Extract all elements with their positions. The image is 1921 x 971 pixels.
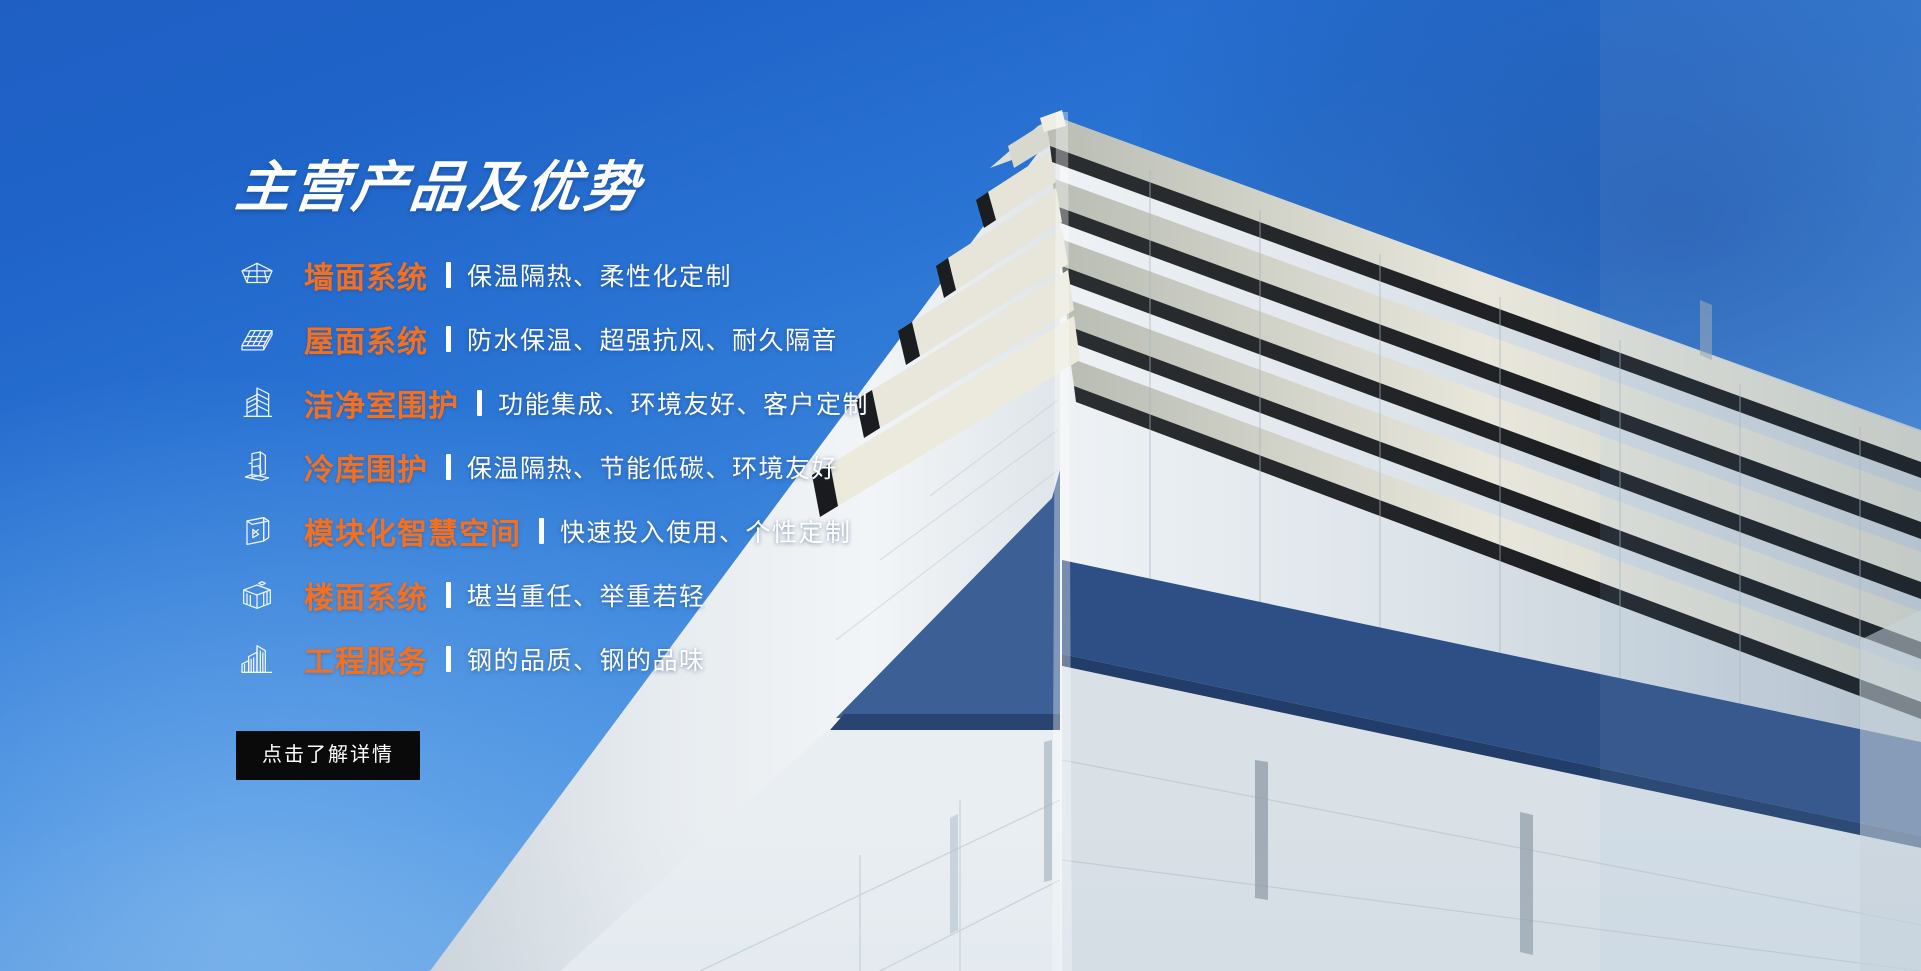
feature-title: 墙面系统 bbox=[304, 253, 428, 297]
bottom-vignette bbox=[0, 821, 1921, 971]
feature-separator bbox=[446, 646, 451, 672]
feature-row[interactable]: 模块化智慧空间 快速投入使用、个性定制 bbox=[236, 499, 1056, 563]
feature-row[interactable]: 洁净室围护 功能集成、环境友好、客户定制 bbox=[236, 371, 1056, 435]
feature-title: 模块化智慧空间 bbox=[304, 509, 521, 553]
feature-separator bbox=[539, 518, 544, 544]
feature-desc: 快速投入使用、个性定制 bbox=[560, 513, 852, 549]
feature-desc: 堪当重任、举重若轻 bbox=[467, 577, 706, 613]
learn-more-button[interactable]: 点击了解详情 bbox=[236, 731, 420, 780]
cta-wrapper: 点击了解详情 bbox=[236, 731, 1056, 780]
feature-row[interactable]: 屋面系统 防水保温、超强抗风、耐久隔音 bbox=[236, 307, 1056, 371]
feature-separator bbox=[477, 390, 482, 416]
page-title: 主营产品及优势 bbox=[233, 160, 1059, 215]
modular-space-icon bbox=[236, 510, 278, 552]
feature-separator bbox=[446, 454, 451, 480]
feature-row[interactable]: 工程服务 钢的品质、钢的品味 bbox=[236, 627, 1056, 691]
banner-content: 主营产品及优势 墙面系统 保温隔热、柔性化定制 bbox=[236, 160, 1056, 780]
engineering-icon bbox=[236, 638, 278, 680]
feature-desc: 功能集成、环境友好、客户定制 bbox=[498, 385, 869, 421]
feature-desc: 钢的品质、钢的品味 bbox=[467, 641, 706, 677]
feature-row[interactable]: 楼面系统 堪当重任、举重若轻 bbox=[236, 563, 1056, 627]
feature-title: 洁净室围护 bbox=[304, 381, 459, 425]
feature-row[interactable]: 墙面系统 保温隔热、柔性化定制 bbox=[236, 243, 1056, 307]
wall-system-icon bbox=[236, 254, 278, 296]
feature-list: 墙面系统 保温隔热、柔性化定制 bbox=[236, 243, 1056, 691]
feature-separator bbox=[446, 582, 451, 608]
hero-banner: 主营产品及优势 墙面系统 保温隔热、柔性化定制 bbox=[0, 0, 1921, 971]
sky-glow-upper-right bbox=[1141, 0, 1921, 600]
feature-title: 工程服务 bbox=[304, 637, 428, 681]
feature-title: 屋面系统 bbox=[304, 317, 428, 361]
floor-system-icon bbox=[236, 574, 278, 616]
feature-separator bbox=[446, 326, 451, 352]
feature-title: 冷库围护 bbox=[304, 445, 428, 489]
feature-title: 楼面系统 bbox=[304, 573, 428, 617]
feature-separator bbox=[446, 262, 451, 288]
feature-desc: 防水保温、超强抗风、耐久隔音 bbox=[467, 321, 838, 357]
roof-system-icon bbox=[236, 318, 278, 360]
feature-desc: 保温隔热、节能低碳、环境友好 bbox=[467, 449, 838, 485]
cleanroom-icon bbox=[236, 382, 278, 424]
feature-desc: 保温隔热、柔性化定制 bbox=[467, 257, 732, 293]
coldstorage-icon bbox=[236, 446, 278, 488]
feature-row[interactable]: 冷库围护 保温隔热、节能低碳、环境友好 bbox=[236, 435, 1056, 499]
